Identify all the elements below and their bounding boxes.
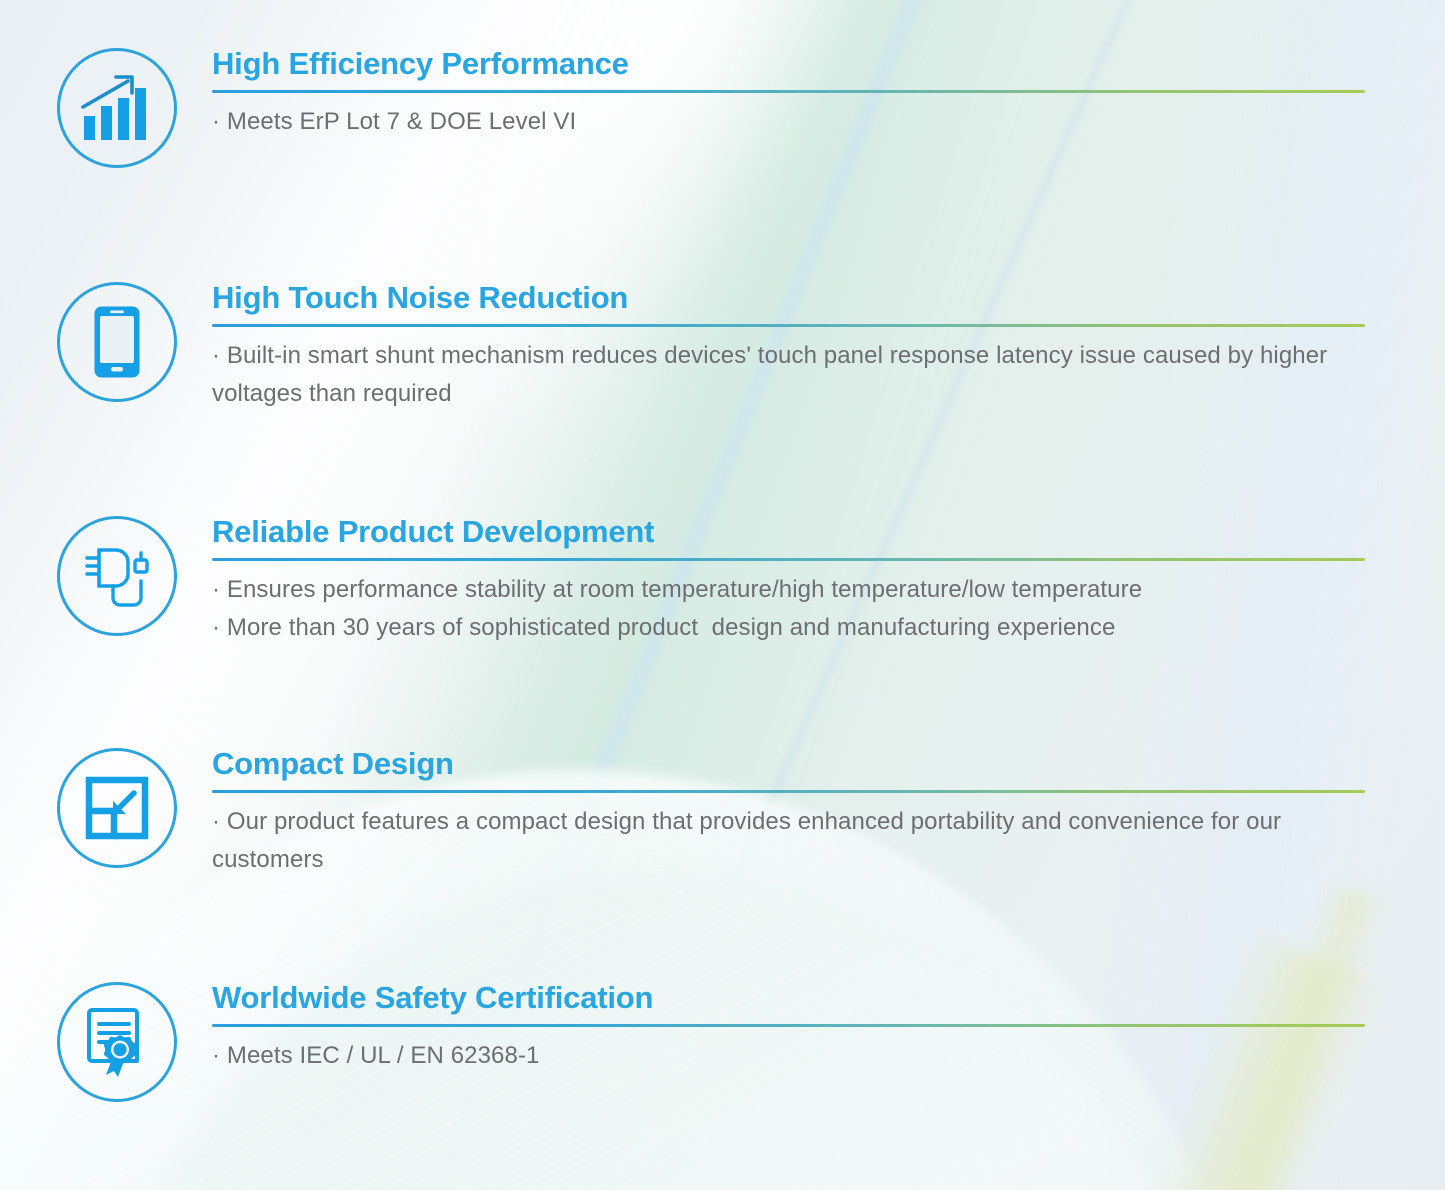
feature-bullet-text: Built-in smart shunt mechanism reduces d… bbox=[212, 342, 1334, 408]
feature-divider bbox=[212, 1024, 1365, 1027]
feature-bullets: · Meets IEC / UL / EN 62368-1 bbox=[212, 1037, 1367, 1076]
feature-bullets: · Ensures performance stability at room … bbox=[212, 571, 1367, 649]
feature-icon-wrap bbox=[57, 516, 177, 636]
feature-title: High Efficiency Performance bbox=[212, 48, 1367, 81]
feature-title: Worldwide Safety Certification bbox=[212, 982, 1367, 1015]
feature-divider bbox=[212, 790, 1365, 793]
feature-bullet: · Meets IEC / UL / EN 62368-1 bbox=[212, 1037, 1367, 1076]
feature-divider bbox=[212, 324, 1365, 327]
power-adapter-icon bbox=[57, 516, 177, 636]
feature-title: Compact Design bbox=[212, 748, 1367, 781]
feature-icon-wrap bbox=[57, 282, 177, 402]
feature-bullet: · More than 30 years of sophisticated pr… bbox=[212, 609, 1367, 648]
feature-bullet-text: Meets ErP Lot 7 & DOE Level VI bbox=[227, 108, 576, 135]
feature-bullet: · Meets ErP Lot 7 & DOE Level VI bbox=[212, 103, 1367, 142]
feature-title: Reliable Product Development bbox=[212, 516, 1367, 549]
feature-text-column: Worldwide Safety Certification · Meets I… bbox=[212, 982, 1367, 1075]
feature-text-column: Reliable Product Development · Ensures p… bbox=[212, 516, 1367, 648]
feature-bullets: · Our product features a compact design … bbox=[212, 803, 1367, 881]
feature-bullet: · Built-in smart shunt mechanism reduces… bbox=[212, 337, 1367, 415]
feature-divider bbox=[212, 558, 1365, 561]
certificate-seal-icon bbox=[57, 982, 177, 1102]
compact-resize-icon bbox=[57, 748, 177, 868]
feature-infographic-page: High Efficiency Performance · Meets ErP … bbox=[0, 0, 1445, 1190]
feature-text-column: High Efficiency Performance · Meets ErP … bbox=[212, 48, 1367, 141]
feature-bullet: · Ensures performance stability at room … bbox=[212, 571, 1367, 610]
feature-bullets: · Built-in smart shunt mechanism reduces… bbox=[212, 337, 1367, 415]
feature-icon-wrap bbox=[57, 48, 177, 168]
bar-chart-growth-icon bbox=[57, 48, 177, 168]
feature-bullet-text: Ensures performance stability at room te… bbox=[227, 576, 1142, 603]
feature-divider bbox=[212, 90, 1365, 93]
feature-bullet-text: More than 30 years of sophisticated prod… bbox=[227, 614, 1116, 641]
feature-title: High Touch Noise Reduction bbox=[212, 282, 1367, 315]
feature-bullet-text: Our product features a compact design th… bbox=[212, 808, 1288, 874]
feature-icon-wrap bbox=[57, 982, 177, 1102]
feature-bullet: · Our product features a compact design … bbox=[212, 803, 1367, 881]
feature-text-column: High Touch Noise Reduction · Built-in sm… bbox=[212, 282, 1367, 414]
feature-bullets: · Meets ErP Lot 7 & DOE Level VI bbox=[212, 103, 1367, 142]
feature-text-column: Compact Design · Our product features a … bbox=[212, 748, 1367, 880]
smartphone-icon bbox=[57, 282, 177, 402]
feature-bullet-text: Meets IEC / UL / EN 62368-1 bbox=[227, 1042, 540, 1069]
feature-icon-wrap bbox=[57, 748, 177, 868]
